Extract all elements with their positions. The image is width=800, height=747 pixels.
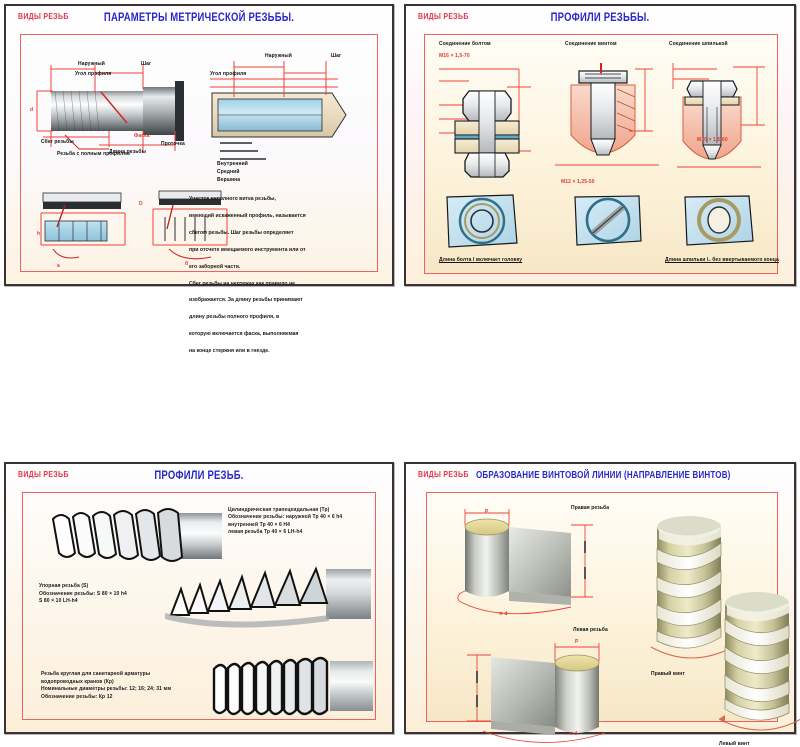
bolt-joint-top-view bbox=[443, 191, 521, 251]
label-pitch-top: P bbox=[485, 509, 488, 515]
poster-1-header: ВИДЫ РЕЗЬБ ПАРАМЕТРЫ МЕТРИЧЕСКОЙ РЕЗЬБЫ. bbox=[6, 10, 392, 28]
label-pitch-left: Р bbox=[575, 639, 578, 645]
poster-helix-formation: ВИДЫ РЕЗЬБ ОБРАЗОВАНИЕ ВИНТОВОЙ ЛИНИИ (Н… bbox=[404, 462, 796, 734]
column-heading-stud: Соединение шпилькой bbox=[669, 41, 728, 47]
label-thread-length: Длина резьбы bbox=[109, 149, 146, 155]
label-undercut: Проточка bbox=[161, 141, 185, 147]
poster-1-description: Участок неполного витка резьбы, имеющий … bbox=[189, 187, 371, 355]
poster-2-title: ПРОФИЛИ РЕЗЬБЫ. bbox=[406, 11, 794, 25]
profile-2-spec-block: Упорная резьба (S) Обозначение резьбы: S… bbox=[39, 583, 179, 606]
poster-3-canvas: ВИДЫ РЕЗЬБ ПРОФИЛИ РЕЗЬБ. bbox=[6, 464, 392, 732]
label-left-screw: Левый винт bbox=[719, 741, 750, 747]
column-spec-bolt: М16 × 1,5-70 bbox=[439, 53, 470, 59]
column-caption-stud: Длина шпильки l₀ без ввертываемого конца bbox=[665, 257, 779, 263]
poster-thread-parameters: ВИДЫ РЕЗЬБ ПАРАМЕТРЫ МЕТРИЧЕСКОЙ РЕЗЬБЫ. bbox=[4, 4, 394, 286]
profile-2-line-3: S 80 × 10 h4 bbox=[97, 591, 127, 597]
poster-thread-profiles-joints: ВИДЫ РЕЗЬБ ПРОФИЛИ РЕЗЬБЫ. Соединение бо… bbox=[404, 4, 796, 286]
label-chamfer: Фаска bbox=[134, 133, 150, 139]
poster-3-header: ВИДЫ РЕЗЬБ ПРОФИЛИ РЕЗЬБ. bbox=[6, 468, 392, 486]
profile-3-line-6: Кр 12 bbox=[99, 694, 113, 700]
label-detail-b-view: б bbox=[185, 261, 188, 267]
profile-3-line-2: (Кр) bbox=[104, 679, 114, 685]
label-bolt-dia: d bbox=[30, 107, 33, 113]
poster-4-kicker: ВИДЫ РЕЗЬБ bbox=[418, 471, 469, 479]
profile-3-line-5: Обозначение резьбы: bbox=[41, 694, 97, 700]
profile-1-line-3: Тр 40 × 6 h4 bbox=[313, 514, 343, 520]
poster-4-field: Правая резьба P π d bbox=[426, 492, 778, 722]
column-caption-bolt: Длина болта l включает головку bbox=[439, 257, 522, 263]
thread-detail-view-a bbox=[35, 187, 133, 269]
profile-3-spec-block: Резьба круглая для санитарной арматуры в… bbox=[41, 671, 201, 701]
poster-4-title: ОБРАЗОВАНИЕ ВИНТОВОЙ ЛИНИИ (НАПРАВЛЕНИЕ … bbox=[476, 469, 790, 480]
label-pitch: Шаг bbox=[141, 61, 151, 67]
label-nut-angle: Угол профиля bbox=[210, 71, 246, 77]
label-run-out: Сбег резьбы bbox=[41, 139, 74, 145]
poster-3-title: ПРОФИЛИ РЕЗЬБ. bbox=[6, 469, 392, 483]
profile-3-line-3: Номинальные диаметры резьбы: bbox=[41, 686, 128, 692]
poster-sheet: ВИДЫ РЕЗЬБ ПАРАМЕТРЫ МЕТРИЧЕСКОЙ РЕЗЬБЫ. bbox=[0, 0, 800, 740]
left-helix-unwrap bbox=[451, 633, 666, 741]
label-circumference-2: π d bbox=[569, 731, 578, 737]
poster-4-header: ВИДЫ РЕЗЬБ ОБРАЗОВАНИЕ ВИНТОВОЙ ЛИНИИ (Н… bbox=[406, 468, 794, 486]
label-detail-a-view: a bbox=[57, 263, 60, 269]
label-circumference-1: π d bbox=[499, 611, 508, 617]
profile-2-line-1: (S) bbox=[81, 583, 88, 589]
profile-1-line-7: Тр 40 × 6 LH-h4 bbox=[264, 529, 302, 535]
label-detail-b-dim: D bbox=[139, 201, 143, 207]
poster-1-title: ПАРАМЕТРЫ МЕТРИЧЕСКОЙ РЕЗЬБЫ. bbox=[6, 11, 392, 25]
column-heading-bolt: Соединение болтом bbox=[439, 41, 491, 47]
profile-2-line-0: Упорная резьба bbox=[39, 583, 80, 589]
poster-1-canvas: ВИДЫ РЕЗЬБ ПАРАМЕТРЫ МЕТРИЧЕСКОЙ РЕЗЬБЫ. bbox=[6, 6, 392, 284]
profile-1-line-4: внутренней bbox=[228, 522, 258, 528]
profile-1-line-0: Цилиндрическая трапецеидальная bbox=[228, 507, 318, 513]
label-nut-outer: Наружный bbox=[265, 53, 292, 59]
label-right-thread: Правая резьба bbox=[571, 505, 609, 511]
profile-1-line-2: Обозначение резьбы: наружной bbox=[228, 514, 311, 520]
column-spec-screw: М12 × 1,25-50 bbox=[561, 179, 595, 185]
left-screw-model bbox=[713, 581, 800, 739]
profile-2-line-4: S 80 × 10 LH-h4 bbox=[39, 598, 78, 604]
poster-2-header: ВИДЫ РЕЗЬБ ПРОФИЛИ РЕЗЬБЫ. bbox=[406, 10, 794, 28]
screw-joint-drawing bbox=[549, 55, 667, 185]
profile-1-spec-block: Цилиндрическая трапецеидальная (Тр) Обоз… bbox=[228, 507, 373, 536]
stud-joint-top-view bbox=[681, 191, 757, 249]
profile-3-line-1: водопроводных кранов bbox=[41, 679, 102, 685]
label-profile-angle: Угол профиля bbox=[75, 71, 111, 77]
poster-thread-profiles: ВИДЫ РЕЗЬБ ПРОФИЛИ РЕЗЬБ. bbox=[4, 462, 394, 734]
right-helix-unwrap bbox=[447, 505, 657, 623]
profile-3-line-0: Резьба круглая для санитарной арматуры bbox=[41, 671, 150, 677]
poster-3-field: Цилиндрическая трапецеидальная (Тр) Обоз… bbox=[22, 492, 376, 720]
stud-joint-drawing bbox=[661, 55, 781, 185]
buttress-thread-photo bbox=[161, 565, 371, 643]
column-heading-screw: Соединение винтом bbox=[565, 41, 617, 47]
nut-thread-drawing bbox=[206, 53, 368, 163]
profile-2-line-2: Обозначение резьбы: bbox=[39, 591, 95, 597]
profile-1-line-1: (Тр) bbox=[320, 507, 330, 513]
label-right-screw: Правый винт bbox=[651, 671, 685, 677]
label-nut-crest: Вершина bbox=[217, 177, 240, 183]
round-thread-photo bbox=[208, 657, 373, 723]
profile-1-line-6: левая резьба bbox=[228, 529, 262, 535]
label-detail-a-dim: h bbox=[37, 231, 40, 237]
poster-2-canvas: ВИДЫ РЕЗЬБ ПРОФИЛИ РЕЗЬБЫ. Соединение бо… bbox=[406, 6, 794, 284]
profile-1-line-5: Тр 40 × 6 Н4 bbox=[260, 522, 290, 528]
poster-4-canvas: ВИДЫ РЕЗЬБ ОБРАЗОВАНИЕ ВИНТОВОЙ ЛИНИИ (Н… bbox=[406, 464, 794, 732]
bolt-joint-drawing bbox=[433, 61, 555, 187]
screw-joint-top-view bbox=[571, 191, 645, 249]
label-outer-dia: Наружный bbox=[78, 61, 105, 67]
label-left-thread: Левая резьба bbox=[573, 627, 608, 633]
label-nut-inner: Внутренний bbox=[217, 161, 248, 167]
label-nut-pitch: Шаг bbox=[331, 53, 341, 59]
label-nut-mean: Средний bbox=[217, 169, 240, 175]
poster-1-field: Наружный Шаг Угол профиля d Сбег резьбы … bbox=[20, 34, 378, 272]
column-spec-stud: М10 × 1,5-60 bbox=[697, 137, 728, 143]
poster-2-field: Соединение болтом М16 × 1,5-70 bbox=[424, 34, 778, 274]
trapezoidal-thread-photo bbox=[47, 507, 222, 565]
profile-3-line-4: 12; 16; 24; 31 мм bbox=[129, 686, 171, 692]
